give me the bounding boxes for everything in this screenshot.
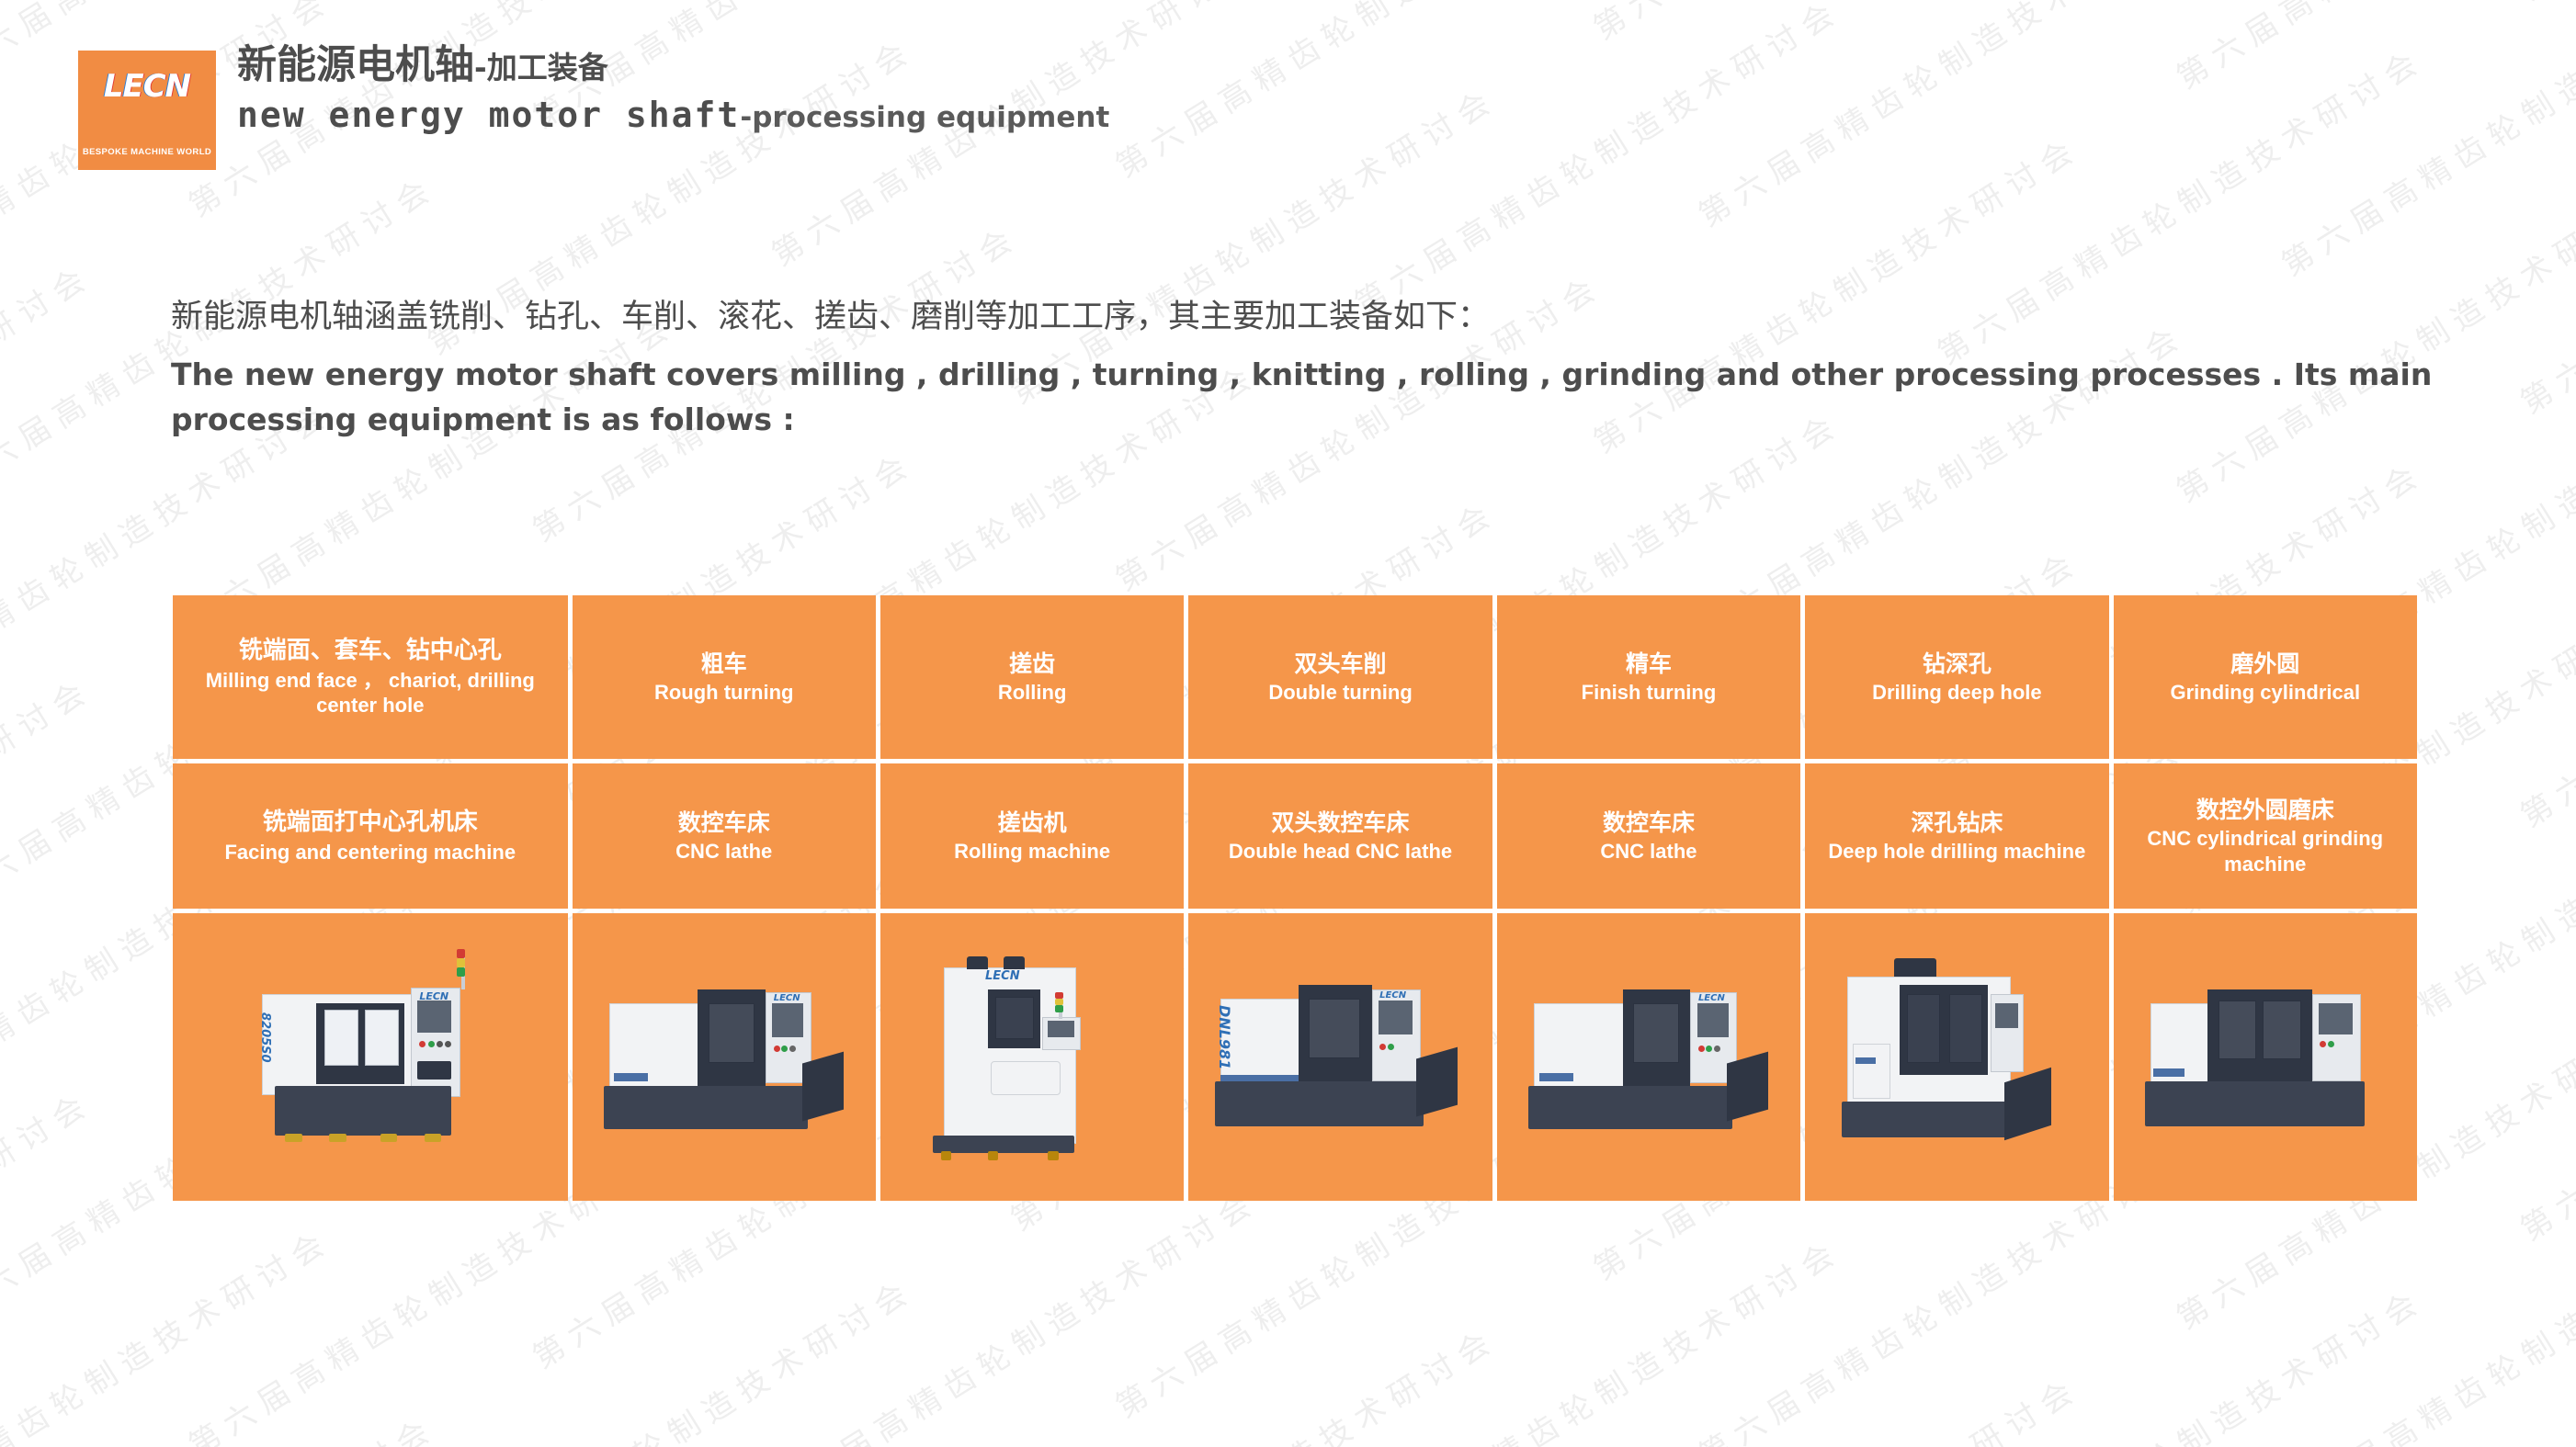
process-cell-4: 双头车削 Double turning xyxy=(1188,595,1492,759)
machine-model-label-1: 8205S0 xyxy=(258,1012,272,1063)
cnc-cylindrical-grinding-machine-photo xyxy=(2114,913,2417,1201)
machine-cell-1: 铣端面打中心孔机床 Facing and centering machine xyxy=(173,763,568,909)
page-title-cn-main: 新能源电机轴 xyxy=(237,42,474,88)
machine-illustration-4: DNL981 LECN xyxy=(1209,944,1470,1169)
process-cn-2: 粗车 xyxy=(701,650,747,678)
process-cell-2: 粗车 Rough turning xyxy=(573,595,876,759)
machine-illustration-5: LECN xyxy=(1518,944,1779,1169)
cnc-lathe-finish-photo: LECN xyxy=(1497,913,1800,1201)
facing-and-centering-machine-photo: LECN 8205S0 xyxy=(173,913,568,1201)
rolling-machine-photo: LECN xyxy=(880,913,1184,1201)
process-cn-5: 精车 xyxy=(1626,650,1672,678)
double-head-cnc-lathe-photo: DNL981 LECN xyxy=(1188,913,1492,1201)
machine-brand-label-4: LECN xyxy=(1379,990,1406,1000)
process-en-1: Milling end face ， chariot, drilling cen… xyxy=(182,668,559,718)
machine-illustration-6 xyxy=(1826,944,2087,1169)
machine-brand-label-5: LECN xyxy=(1698,993,1725,1003)
machine-cn-3: 搓齿机 xyxy=(998,808,1067,837)
machine-illustration-3: LECN xyxy=(902,944,1163,1169)
machine-cell-6: 深孔钻床 Deep hole drilling machine xyxy=(1805,763,2108,909)
machine-cn-1: 铣端面打中心孔机床 xyxy=(263,808,478,838)
machine-cn-7: 数控外圆磨床 xyxy=(2196,796,2334,824)
machine-cell-4: 双头数控车床 Double head CNC lathe xyxy=(1188,763,1492,909)
page-title-en-suffix: -processing equipment xyxy=(740,101,1109,134)
process-en-5: Finish turning xyxy=(1582,680,1717,706)
process-cn-4: 双头车削 xyxy=(1295,650,1387,678)
page-title-en: new energy motor shaft-processing equipm… xyxy=(237,95,1109,135)
intro-text-en: The new energy motor shaft covers millin… xyxy=(171,352,2441,443)
machine-illustration-1: LECN 8205S0 xyxy=(200,944,539,1169)
machine-en-7: CNC cylindrical grinding machine xyxy=(2123,826,2408,876)
company-logo: LECN BESPOKE MACHINE WORLD xyxy=(78,51,216,170)
machine-brand-label-2: LECN xyxy=(774,993,800,1003)
process-cell-1: 铣端面、套车、钻中心孔 Milling end face ， chariot, … xyxy=(173,595,568,759)
machine-cell-3: 搓齿机 Rolling machine xyxy=(880,763,1184,909)
process-cell-7: 磨外圆 Grinding cylindrical xyxy=(2114,595,2417,759)
machine-en-3: Rolling machine xyxy=(954,839,1110,865)
page-title-cn-suffix: -加工装备 xyxy=(474,50,608,85)
intro-text-cn: 新能源电机轴涵盖铣削、钻孔、车削、滚花、搓齿、磨削等加工工序，其主要加工装备如下… xyxy=(171,294,2441,341)
machine-cn-2: 数控车床 xyxy=(678,808,770,837)
process-en-3: Rolling xyxy=(998,680,1067,706)
machine-en-1: Facing and centering machine xyxy=(224,840,516,865)
intro-paragraph: 新能源电机轴涵盖铣削、钻孔、车削、滚花、搓齿、磨削等加工工序，其主要加工装备如下… xyxy=(171,294,2441,443)
process-cn-3: 搓齿 xyxy=(1009,650,1055,678)
process-cell-3: 搓齿 Rolling xyxy=(880,595,1184,759)
machine-cell-2: 数控车床 CNC lathe xyxy=(573,763,876,909)
machine-en-5: CNC lathe xyxy=(1600,839,1697,865)
title-block: 新能源电机轴-加工装备 new energy motor shaft-proce… xyxy=(237,42,1109,135)
process-cn-6: 钻深孔 xyxy=(1923,650,1992,678)
process-cell-6: 钻深孔 Drilling deep hole xyxy=(1805,595,2108,759)
machine-illustration-2: LECN xyxy=(594,944,855,1169)
machine-en-4: Double head CNC lathe xyxy=(1229,839,1452,865)
equipment-table: 铣端面、套车、钻中心孔 Milling end face ， chariot, … xyxy=(173,595,2417,1201)
machine-illustration-7 xyxy=(2135,944,2396,1169)
page-title-cn: 新能源电机轴-加工装备 xyxy=(237,42,1109,89)
logo-tagline: BESPOKE MACHINE WORLD xyxy=(83,147,211,157)
process-en-2: Rough turning xyxy=(654,680,794,706)
machine-cn-5: 数控车床 xyxy=(1603,808,1695,837)
machine-model-label-4: DNL981 xyxy=(1216,1005,1233,1069)
machine-brand-label-1: LECN xyxy=(419,990,448,1002)
machine-cn-4: 双头数控车床 xyxy=(1272,808,1410,837)
page-header: LECN BESPOKE MACHINE WORLD 新能源电机轴-加工装备 n… xyxy=(0,0,2576,188)
process-cn-7: 磨外圆 xyxy=(2230,650,2299,678)
logo-wordmark: LECN xyxy=(104,71,190,102)
machine-brand-label-3: LECN xyxy=(985,969,1020,983)
machine-en-6: Deep hole drilling machine xyxy=(1828,839,2085,865)
process-en-7: Grinding cylindrical xyxy=(2170,680,2360,706)
process-cn-1: 铣端面、套车、钻中心孔 xyxy=(239,636,502,666)
page-title-en-main: new energy motor shaft xyxy=(237,95,740,135)
machine-en-2: CNC lathe xyxy=(675,839,772,865)
process-en-6: Drilling deep hole xyxy=(1872,680,2042,706)
machine-cn-6: 深孔钻床 xyxy=(1911,808,2003,837)
machine-cell-5: 数控车床 CNC lathe xyxy=(1497,763,1800,909)
process-cell-5: 精车 Finish turning xyxy=(1497,595,1800,759)
machine-cell-7: 数控外圆磨床 CNC cylindrical grinding machine xyxy=(2114,763,2417,909)
deep-hole-drilling-machine-photo xyxy=(1805,913,2108,1201)
process-en-4: Double turning xyxy=(1268,680,1412,706)
cnc-lathe-photo: LECN xyxy=(573,913,876,1201)
